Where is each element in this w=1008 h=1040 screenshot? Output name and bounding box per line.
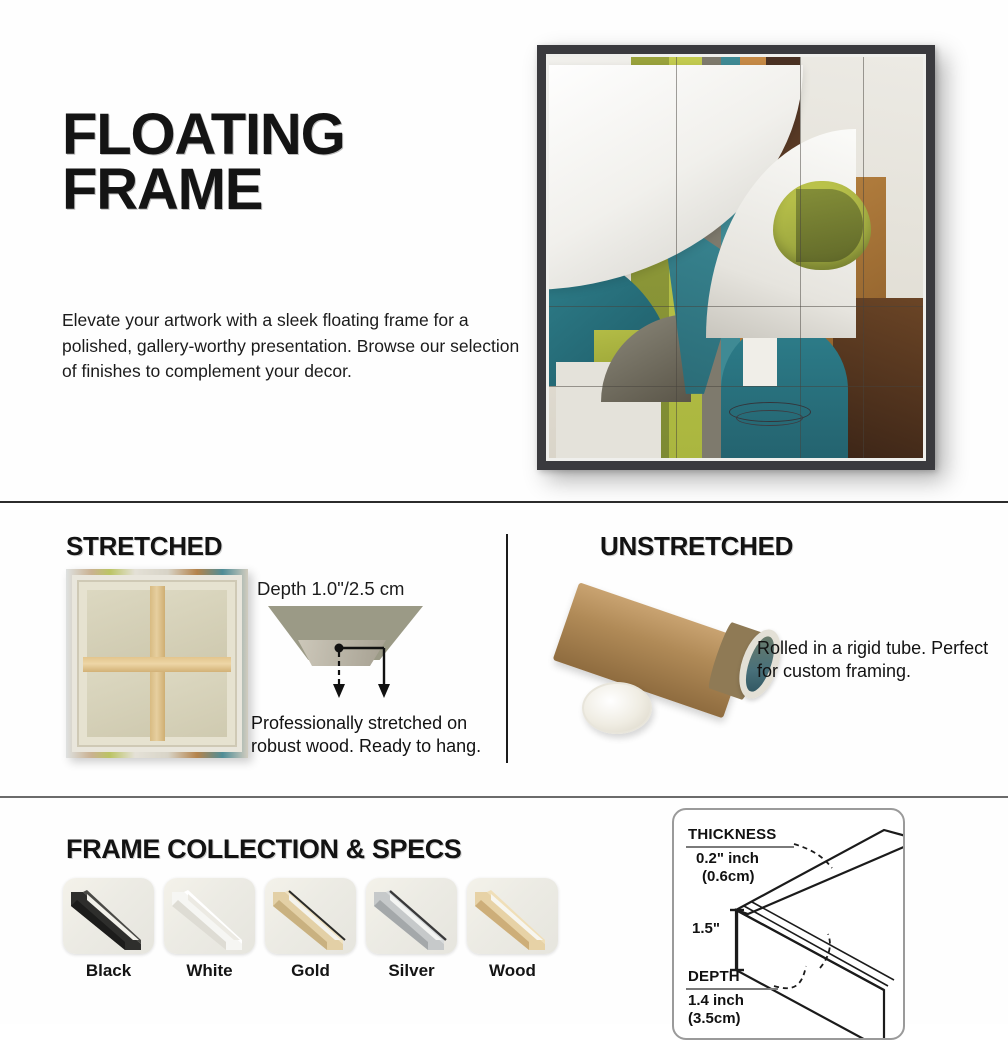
- swatch-label: White: [164, 961, 255, 981]
- stretched-canvas-back-photo: [66, 569, 248, 758]
- swatch-label: Wood: [467, 961, 558, 981]
- frame-height-measure: 1.5": [692, 920, 720, 937]
- framed-artwork: [537, 45, 935, 470]
- frame-swatch-silver[interactable]: Silver: [366, 878, 457, 981]
- depth-centimeters: (3.5cm): [688, 1010, 741, 1027]
- product-infographic: FLOATING FRAME Elevate your artwork with…: [0, 0, 1008, 1024]
- swatch-label: Silver: [366, 961, 457, 981]
- stretcher-bar-horizontal: [83, 657, 231, 672]
- stretched-heading: STRETCHED: [66, 531, 222, 562]
- stretched-description: Professionally stretched on robust wood.…: [251, 712, 501, 758]
- frame-swatch-black[interactable]: Black: [63, 878, 154, 981]
- artwork-canvas: [549, 57, 923, 458]
- hero-description: Elevate your artwork with a sleek floati…: [62, 308, 532, 385]
- thickness-underline: [686, 846, 794, 848]
- frame-corner-icon: [164, 878, 255, 954]
- hero-section: FLOATING FRAME Elevate your artwork with…: [0, 0, 1008, 501]
- frame-corner-icon: [265, 878, 356, 954]
- frame-specs-diagram: THICKNESS 0.2" inch (0.6cm) 1.5" DEPTH 1…: [672, 808, 905, 1040]
- swatch-tile[interactable]: [63, 878, 154, 954]
- swatch-tile[interactable]: [467, 878, 558, 954]
- frame-corner-icon: [467, 878, 558, 954]
- depth-measure-arrows: [255, 600, 435, 710]
- depth-inches: 1.4 inch: [688, 992, 744, 1009]
- frame-collection-section: FRAME COLLECTION & SPECS Black: [0, 796, 1008, 1024]
- depth-heading: DEPTH: [688, 968, 740, 985]
- depth-measurement-label: Depth 1.0"/2.5 cm: [257, 578, 404, 600]
- frame-corner-icon: [63, 878, 154, 954]
- title-line-2: FRAME: [62, 163, 345, 218]
- swatch-label: Gold: [265, 961, 356, 981]
- swatch-label: Black: [63, 961, 154, 981]
- unstretched-description: Rolled in a rigid tube. Perfect for cust…: [757, 637, 1007, 684]
- frame-swatch-white[interactable]: White: [164, 878, 255, 981]
- frame-swatch-list: Black White: [63, 878, 558, 981]
- swatch-tile[interactable]: [265, 878, 356, 954]
- swatch-tile[interactable]: [164, 878, 255, 954]
- vertical-divider: [506, 534, 508, 763]
- swatch-tile[interactable]: [366, 878, 457, 954]
- artwork-float-mat: [546, 54, 926, 461]
- thickness-heading: THICKNESS: [688, 826, 776, 843]
- depth-underline: [686, 988, 778, 990]
- unstretched-heading: UNSTRETCHED: [600, 531, 793, 562]
- frame-swatch-gold[interactable]: Gold: [265, 878, 356, 981]
- shipping-tube-photo: [566, 570, 781, 750]
- frame-corner-icon: [366, 878, 457, 954]
- thickness-centimeters: (0.6cm): [702, 868, 755, 885]
- thickness-inches: 0.2" inch: [696, 850, 759, 867]
- frame-swatch-wood[interactable]: Wood: [467, 878, 558, 981]
- tube-end-cap: [582, 682, 652, 734]
- collection-title: FRAME COLLECTION & SPECS: [66, 834, 461, 865]
- page-title: FLOATING FRAME: [62, 108, 345, 217]
